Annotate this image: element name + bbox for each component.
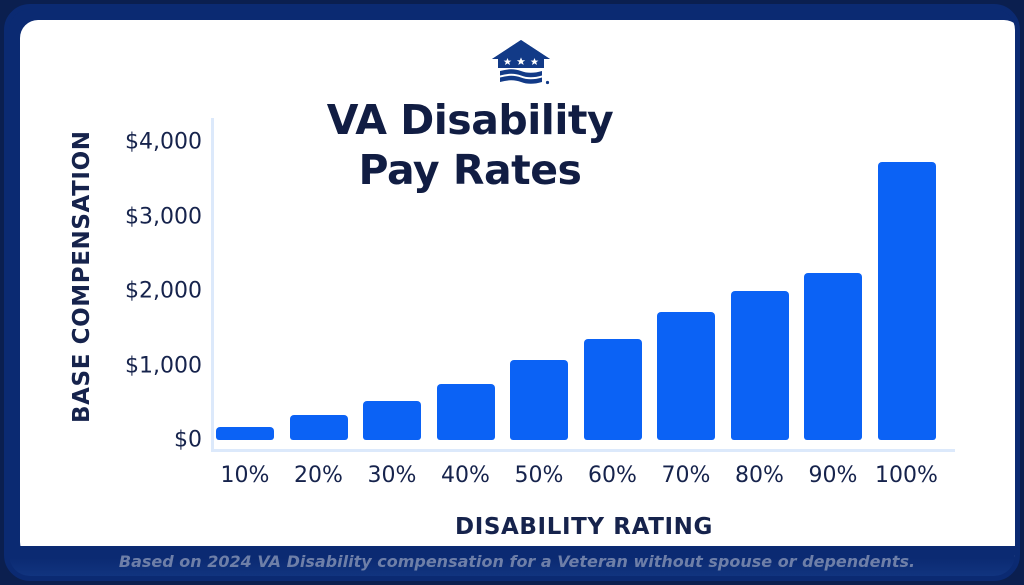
bar-100pct[interactable] xyxy=(878,162,936,440)
y-axis-tick-label: $4,000 xyxy=(22,130,202,155)
house-with-stars-and-stripes-logo-icon xyxy=(490,38,552,86)
y-axis-line xyxy=(211,118,214,452)
bar-10pct[interactable] xyxy=(216,427,274,440)
bar-80pct[interactable] xyxy=(731,291,789,440)
infographic-canvas: VA Disability Pay Rates $0$1,000$2,000$3… xyxy=(20,20,1020,560)
bar-60pct[interactable] xyxy=(584,339,642,440)
x-axis-line xyxy=(211,449,955,452)
footer-band: Based on 2024 VA Disability compensation… xyxy=(9,546,1020,576)
infographic-root: VA Disability Pay Rates $0$1,000$2,000$3… xyxy=(0,0,1024,585)
infographic-frame: VA Disability Pay Rates $0$1,000$2,000$3… xyxy=(4,4,1020,581)
y-axis-tick-labels: $0$1,000$2,000$3,000$4,000 xyxy=(20,20,202,560)
x-axis-tick-label: 100% xyxy=(862,463,952,488)
y-axis-tick-label: $3,000 xyxy=(22,204,202,229)
y-axis-title: BASE COMPENSATION xyxy=(69,153,95,423)
footer-caption: Based on 2024 VA Disability compensation… xyxy=(9,552,1020,571)
bar-series xyxy=(216,118,958,440)
bar-70pct[interactable] xyxy=(657,312,715,440)
y-axis-tick-label: $0 xyxy=(22,428,202,453)
bar-20pct[interactable] xyxy=(290,415,348,440)
y-axis-tick-label: $2,000 xyxy=(22,279,202,304)
bar-50pct[interactable] xyxy=(510,360,568,440)
bar-40pct[interactable] xyxy=(437,384,495,440)
x-axis-title: DISABILITY RATING xyxy=(212,514,956,540)
bar-30pct[interactable] xyxy=(363,401,421,440)
bar-90pct[interactable] xyxy=(804,273,862,440)
y-axis-tick-label: $1,000 xyxy=(22,353,202,378)
